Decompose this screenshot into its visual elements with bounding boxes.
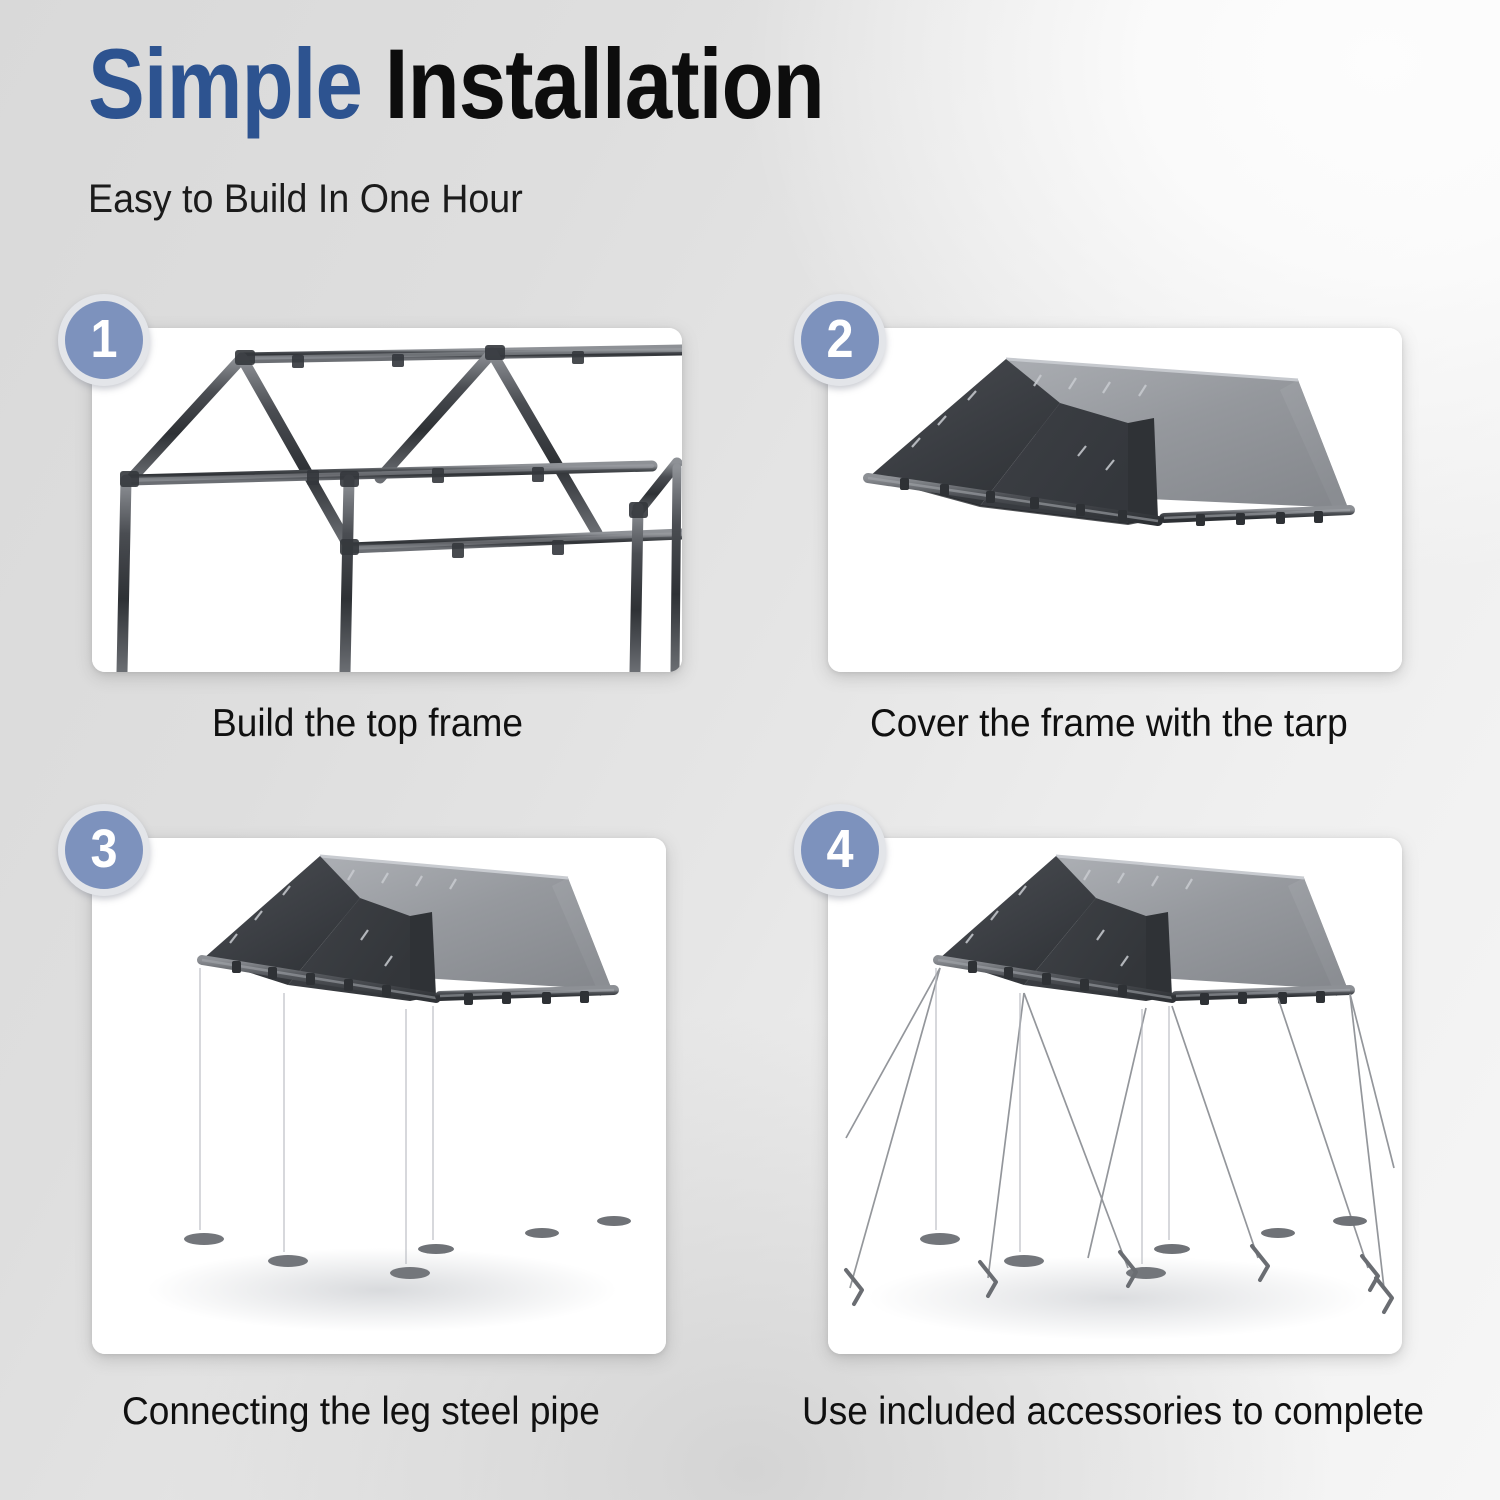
tarp-covered-roof-illustration — [828, 328, 1402, 672]
step-4-number-badge: 4 — [794, 804, 886, 896]
page-title-highlight: Simple — [88, 28, 362, 139]
step-4-number: 4 — [826, 822, 853, 876]
step-3-image-card — [92, 838, 666, 1354]
step-2-number-badge: 2 — [794, 294, 886, 386]
step-1-caption: Build the top frame — [212, 702, 523, 746]
step-3-number: 3 — [90, 822, 117, 876]
steel-top-frame-closeup-illustration — [92, 328, 682, 672]
step-3-number-badge: 3 — [58, 804, 150, 896]
step-2-caption: Cover the frame with the tarp — [870, 702, 1348, 746]
page-title-rest: Installation — [362, 28, 824, 139]
carport-with-guy-ropes-and-stakes-illustration — [828, 838, 1402, 1354]
step-2-number: 2 — [826, 312, 853, 366]
step-4-image-card — [828, 838, 1402, 1354]
page-title: Simple Installation — [88, 34, 1232, 133]
step-1-number: 1 — [90, 312, 117, 366]
step-4-caption: Use included accessories to complete — [802, 1390, 1424, 1434]
step-3-caption: Connecting the leg steel pipe — [122, 1390, 600, 1434]
page-subtitle: Easy to Build In One Hour — [88, 177, 1338, 222]
step-1-image-card — [92, 328, 682, 672]
step-1-number-badge: 1 — [58, 294, 150, 386]
step-2-image-card — [828, 328, 1402, 672]
carport-with-legs-illustration — [92, 838, 666, 1354]
header: Simple Installation Easy to Build In One… — [88, 34, 1418, 222]
